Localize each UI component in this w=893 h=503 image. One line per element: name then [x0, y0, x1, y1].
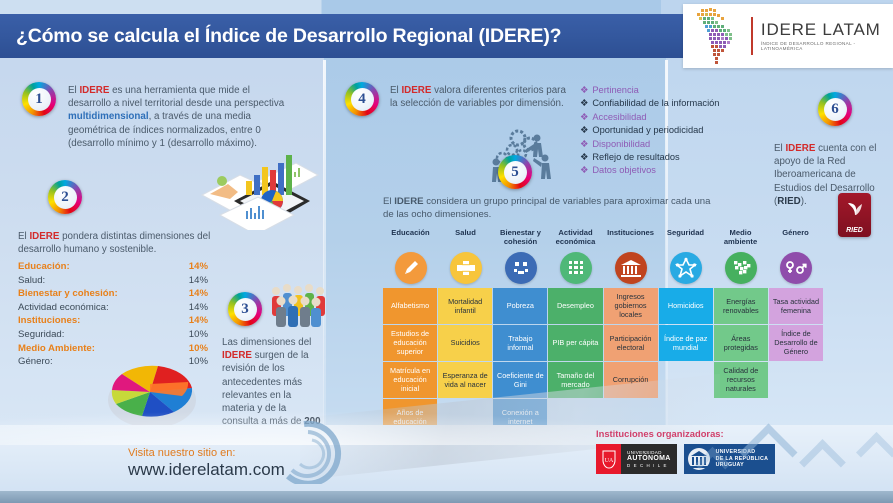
logo-name: IDERE LATAM	[761, 21, 893, 38]
step-badge-3: 3	[228, 292, 262, 326]
variable-cell: Esperanza de vida al nacer	[438, 362, 492, 398]
variable-cell: Trabajo informal	[493, 325, 547, 361]
step-number-3: 3	[241, 301, 249, 318]
ried-logo: RIED	[838, 193, 871, 237]
dimension-header: Bienestar y cohesión	[493, 228, 548, 247]
step-badge-5: 5	[498, 155, 532, 189]
smiley-face-icon	[505, 252, 537, 284]
ried-label: RIED	[846, 227, 863, 234]
logo-subtitle: ÍNDICE DE DESARROLLO REGIONAL - LATINOAM…	[761, 41, 893, 51]
title-bar: ¿Cómo se calcula el Índice de Desarrollo…	[0, 14, 685, 58]
section-4-text: El IDERE valora diferentes criterios par…	[390, 84, 570, 110]
step-number-6: 6	[831, 101, 839, 118]
criteria-item: ❖Accesibilidad	[580, 111, 719, 124]
weight-label: Género:	[18, 355, 53, 369]
variable-cell: Homicidios	[659, 288, 713, 324]
step-badge-1: 1	[22, 82, 56, 116]
weight-row: Bienestar y cohesión: 14%	[18, 287, 208, 301]
variable-cell: Suicidios	[438, 325, 492, 361]
dimension-header: Seguridad	[658, 228, 713, 247]
uautonoma-line3: D E C H I L E	[627, 463, 671, 468]
infographic-page: ¿Cómo se calcula el Índice de Desarrollo…	[0, 0, 893, 503]
weight-row: Seguridad: 10%	[18, 328, 208, 342]
weight-value: 14%	[189, 314, 208, 328]
brand-logo: IDERE LATAM ÍNDICE DE DESARROLLO REGIONA…	[683, 4, 893, 68]
weight-label: Salud:	[18, 274, 45, 288]
gender-symbols-icon	[780, 252, 812, 284]
pencil-icon	[395, 252, 427, 284]
weight-value: 14%	[189, 287, 208, 301]
uautonoma-line2: AUTÓNOMA	[627, 455, 671, 463]
website-prompt: Visita nuestro sitio en:	[128, 447, 285, 459]
diamond-bullet-icon: ❖	[580, 139, 588, 149]
leaf-icon	[845, 199, 865, 219]
step-number-4: 4	[358, 91, 366, 108]
weight-row: Actividad económica: 14%	[18, 301, 208, 315]
leaf-tree-icon	[725, 252, 757, 284]
variable-cell: Tasa actividad femenina	[769, 288, 823, 324]
medical-cross-icon	[450, 252, 482, 284]
criteria-label: Confiabilidad de la información	[592, 98, 719, 108]
weight-row: Salud: 14%	[18, 274, 208, 288]
diamond-bullet-icon: ❖	[580, 152, 588, 162]
shield-star-icon	[670, 252, 702, 284]
criteria-item: ❖Pertinencia	[580, 84, 719, 97]
diamond-bullet-icon: ❖	[580, 125, 588, 135]
weight-row: Instituciones: 14%	[18, 314, 208, 328]
dimension-header: Género	[768, 228, 823, 247]
criteria-item: ❖Confiabilidad de la información	[580, 97, 719, 110]
step-badge-6: 6	[818, 92, 852, 126]
step-badge-2: 2	[48, 180, 82, 214]
section-5-text: El IDERE considera un grupo principal de…	[383, 196, 713, 221]
page-title: ¿Cómo se calcula el Índice de Desarrollo…	[16, 25, 561, 48]
dimension-header: Medio ambiente	[713, 228, 768, 247]
variable-cell: Índice de paz mundial	[659, 325, 713, 361]
variable-cell: Alfabetismo	[383, 288, 437, 324]
variable-cell: Energías renovables	[714, 288, 768, 324]
criteria-item: ❖Oportunidad y periodicidad	[580, 124, 719, 137]
organizers-title: Instituciones organizadoras:	[596, 428, 775, 439]
criteria-item: ❖Disponibilidad	[580, 138, 719, 151]
variable-cell: Áreas protegidas	[714, 325, 768, 361]
variable-cell: Mortalidad infantil	[438, 288, 492, 324]
crowd-of-people-illustration	[268, 281, 330, 329]
diamond-bullet-icon: ❖	[580, 112, 588, 122]
uautonoma-logo: UA UNIVERSIDAD AUTÓNOMA D E C H I L E	[596, 444, 677, 474]
criteria-item: ❖Reflejo de resultados	[580, 151, 719, 164]
uautonoma-shield: UA	[596, 444, 621, 474]
variable-cell: Pobreza	[493, 288, 547, 324]
criteria-label: Disponibilidad	[592, 139, 650, 149]
money-bill-icon	[560, 252, 592, 284]
variable-cell: Desempleo	[548, 288, 602, 324]
variable-cell: Índice de Desarrollo de Género	[769, 325, 823, 361]
weight-label: Medio Ambiente:	[18, 342, 95, 356]
criteria-label: Datos objetivos	[592, 165, 656, 175]
criteria-item: ❖Datos objetivos	[580, 164, 719, 177]
weight-label: Instituciones:	[18, 314, 80, 328]
variable-cell: Participación electoral	[604, 325, 658, 361]
variable-cell: Calidad de recursos naturales	[714, 362, 768, 398]
step-number-5: 5	[511, 164, 519, 181]
criteria-label: Accesibilidad	[592, 112, 646, 122]
dimension-header: Salud	[438, 228, 493, 247]
criteria-label: Oportunidad y periodicidad	[592, 125, 703, 135]
diamond-bullet-icon: ❖	[580, 85, 588, 95]
criteria-label: Reflejo de resultados	[592, 152, 679, 162]
svg-text:UA: UA	[604, 458, 613, 464]
weight-value: 14%	[189, 260, 208, 274]
criteria-list: ❖Pertinencia ❖Confiabilidad de la inform…	[580, 84, 719, 178]
variable-cell: Matrícula en educación inicial	[383, 362, 437, 398]
bank-building-icon	[615, 252, 647, 284]
dimension-header: Actividad económica	[548, 228, 603, 247]
website-url[interactable]: www.iderelatam.com	[128, 460, 285, 480]
weight-value: 10%	[189, 328, 208, 342]
variable-cell: Estudios de educación superior	[383, 325, 437, 361]
weight-row: Educación: 14%	[18, 260, 208, 274]
weight-value: 14%	[189, 274, 208, 288]
weight-label: Educación:	[18, 260, 70, 274]
data-analysis-illustration	[196, 135, 324, 230]
website-callout: Visita nuestro sitio en: www.iderelatam.…	[128, 447, 285, 480]
shield-icon: UA	[601, 448, 617, 470]
logo-divider	[751, 17, 753, 55]
panel-divider-left	[323, 60, 326, 430]
latin-america-map-icon	[687, 6, 749, 66]
dimension-icons-row	[383, 252, 823, 284]
variable-cell: Ingresos gobiernos locales	[604, 288, 658, 324]
step-badge-4: 4	[345, 82, 379, 116]
weight-value: 14%	[189, 301, 208, 315]
weight-label: Seguridad:	[18, 328, 64, 342]
weight-label: Actividad económica:	[18, 301, 109, 315]
section-2-text: El IDERE pondera distintas dimensiones d…	[18, 230, 240, 256]
dimension-header: Educación	[383, 228, 438, 247]
diamond-bullet-icon: ❖	[580, 165, 588, 175]
step-number-1: 1	[35, 91, 43, 108]
weight-label: Bienestar y cohesión:	[18, 287, 118, 301]
criteria-label: Pertinencia	[592, 85, 639, 95]
dimension-header: Instituciones	[603, 228, 658, 247]
step-number-2: 2	[61, 189, 69, 206]
diamond-bullet-icon: ❖	[580, 98, 588, 108]
dimension-headers-row: Educación Salud Bienestar y cohesión Act…	[383, 228, 823, 247]
variable-cell: PIB per cápita	[548, 325, 602, 361]
